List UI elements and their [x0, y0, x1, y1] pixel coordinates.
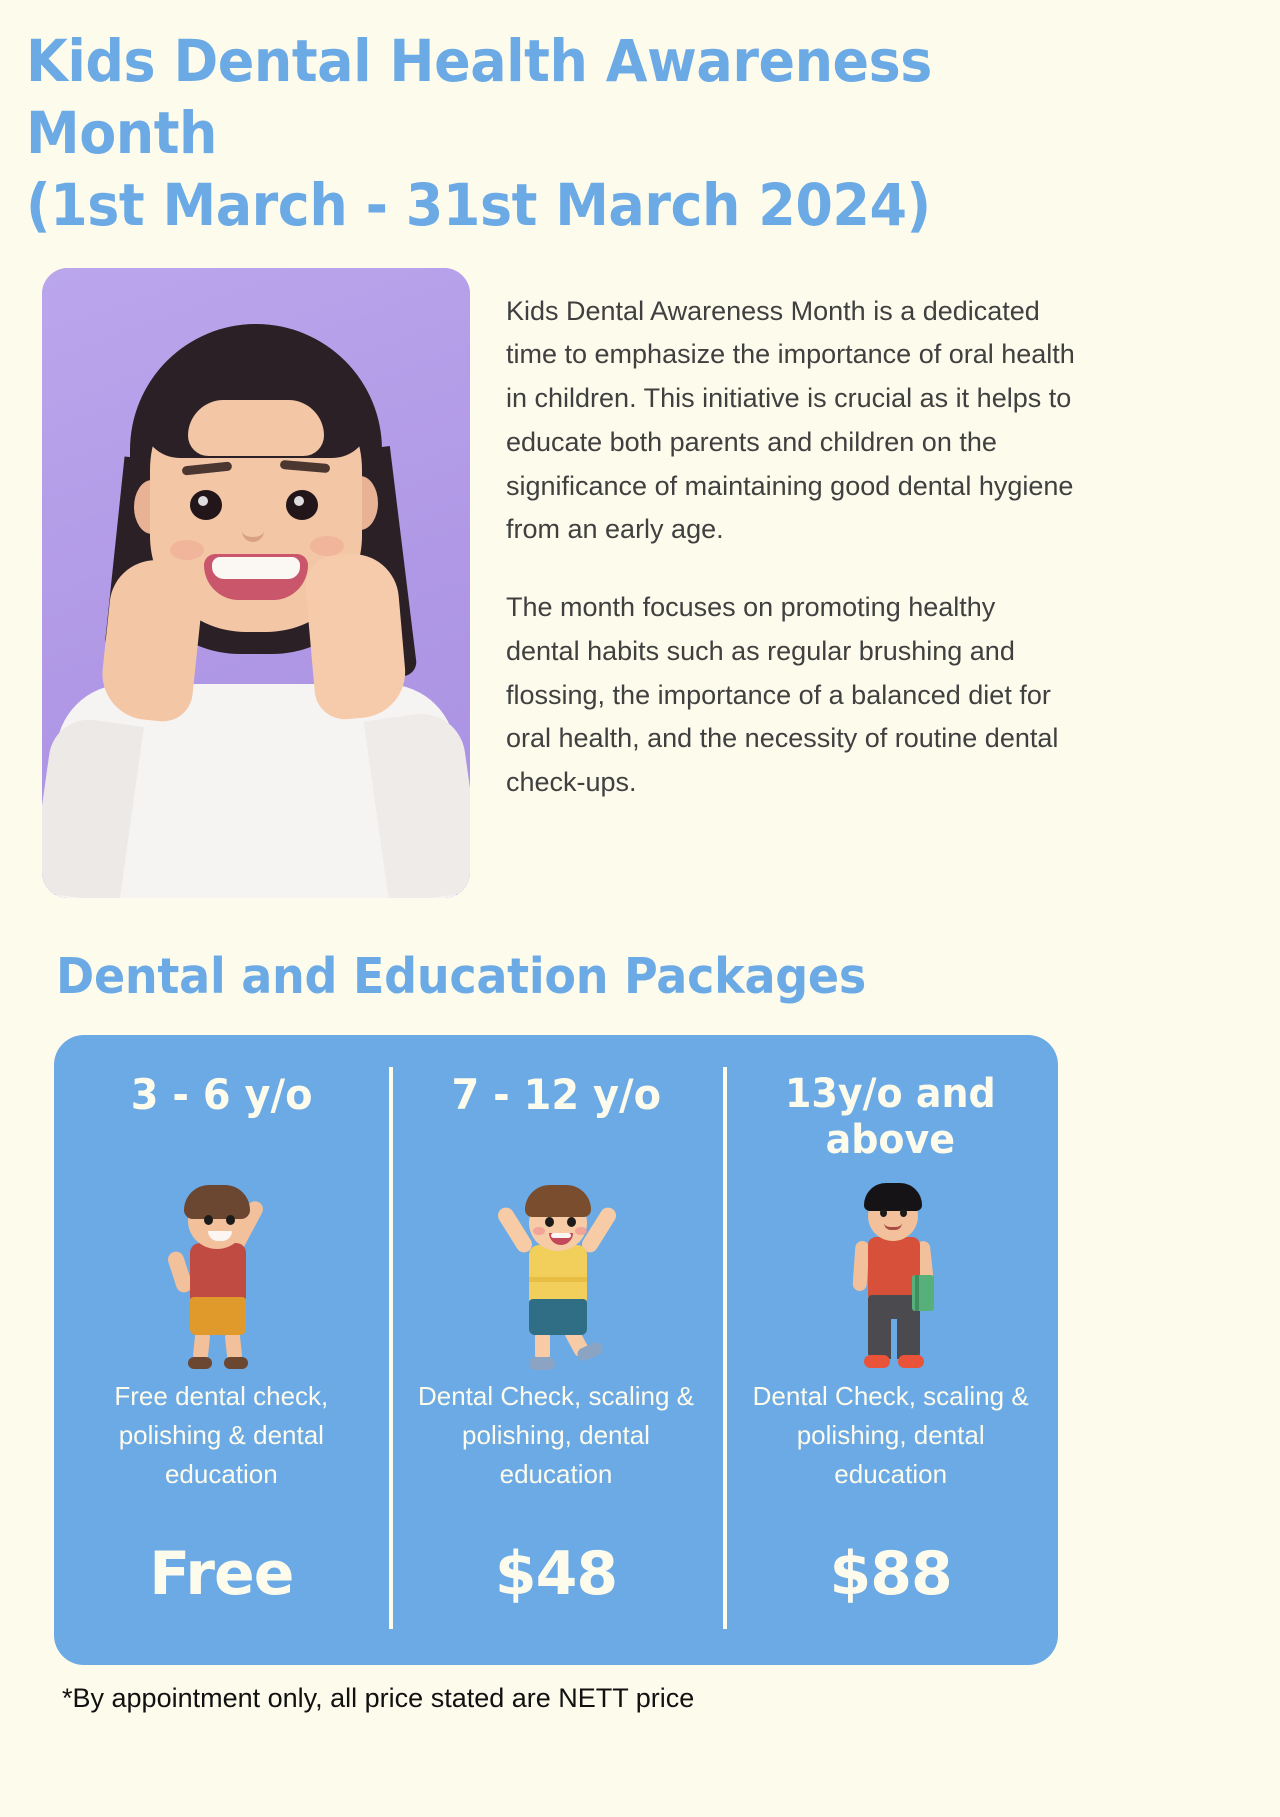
girl-illustration: [42, 268, 470, 898]
title-block: Kids Dental Health Awareness Month (1st …: [0, 0, 1104, 242]
intro-paragraph-2: The month focuses on promoting healthy d…: [506, 586, 1076, 805]
package-description: Free dental check, polishing & dental ed…: [68, 1377, 375, 1511]
boy-yellow-shirt-arms-up-icon: [481, 1179, 631, 1367]
package-description: Dental Check, scaling & polishing, denta…: [737, 1377, 1044, 1511]
package-column-3-6[interactable]: 3 - 6 y/o Free dental check, polishing &…: [54, 1057, 389, 1639]
package-age-label: 13y/o and above: [745, 1071, 1036, 1175]
packages-heading: Dental and Education Packages: [56, 948, 1041, 1005]
page-title: Kids Dental Health Awareness Month (1st …: [26, 26, 1001, 242]
package-column-13-above[interactable]: 13y/o and above Dental Check, scaling & …: [723, 1057, 1058, 1639]
package-column-7-12[interactable]: 7 - 12 y/o Dental Check, scaling & polis…: [389, 1057, 724, 1639]
hero-photo: [42, 268, 470, 898]
boy-red-shirt-one-arm-up-icon: [146, 1179, 296, 1367]
package-age-label: 3 - 6 y/o: [130, 1071, 312, 1175]
packages-card: 3 - 6 y/o Free dental check, polishing &…: [54, 1035, 1058, 1665]
poster-root: Kids Dental Health Awareness Month (1st …: [0, 0, 1104, 1817]
package-price: $48: [495, 1539, 617, 1609]
intro-text-block: Kids Dental Awareness Month is a dedicat…: [506, 268, 1076, 805]
intro-section: Kids Dental Awareness Month is a dedicat…: [0, 268, 1104, 898]
package-price: $88: [830, 1539, 952, 1609]
package-age-label: 7 - 12 y/o: [451, 1071, 661, 1175]
package-price: Free: [149, 1539, 293, 1609]
footnote: *By appointment only, all price stated a…: [62, 1683, 1104, 1714]
intro-paragraph-1: Kids Dental Awareness Month is a dedicat…: [506, 290, 1076, 552]
package-description: Dental Check, scaling & polishing, denta…: [403, 1377, 710, 1511]
teen-boy-with-book-icon: [816, 1179, 966, 1367]
